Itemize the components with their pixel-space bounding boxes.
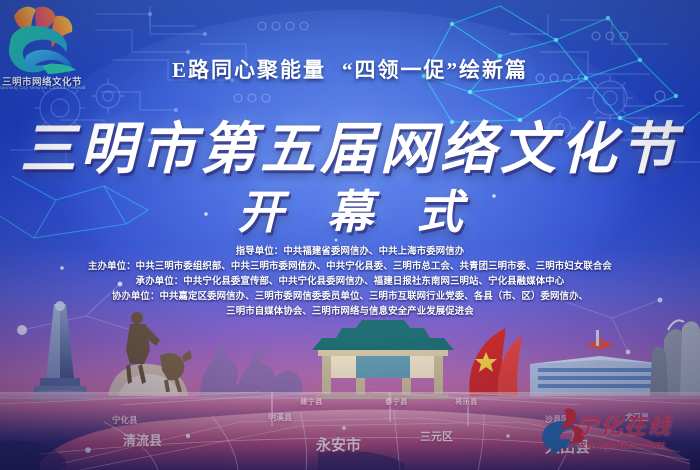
event-poster: 三明市网络文化节 Sanming City Network Cultural F… (0, 0, 700, 470)
vignette-overlay (0, 0, 700, 470)
